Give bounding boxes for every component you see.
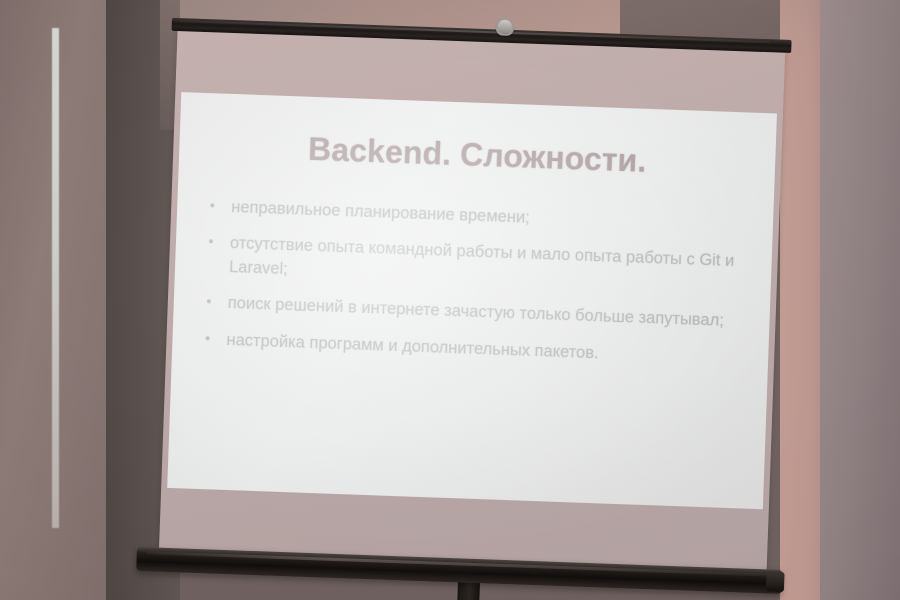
bullet-dot-icon [210, 203, 214, 207]
screenshot-root: Backend. Сложности. неправильное планиро… [0, 0, 900, 600]
list-item-text: поиск решений в интернете зачастую тольк… [228, 294, 725, 330]
list-item: поиск решений в интернете зачастую тольк… [201, 291, 741, 334]
ceiling-hook-icon [496, 17, 515, 36]
list-item: отсутствие опыта командной работы и мало… [203, 232, 744, 298]
list-item: настройка программ и дополнительных паке… [200, 328, 740, 371]
list-item-text: настройка программ и дополнительных паке… [226, 331, 599, 362]
bullet-dot-icon [207, 299, 211, 303]
screen-stand-post [457, 580, 480, 600]
slide-title: Backend. Сложности. [179, 126, 776, 184]
wall-right-dark-panel [820, 0, 900, 600]
projector-screen-fabric: Backend. Сложности. неправильное планиро… [159, 28, 785, 577]
weight-bar-end-cap [766, 571, 785, 592]
projected-slide-area: Backend. Сложности. неправильное планиро… [167, 92, 777, 509]
projector-screen-assembly[interactable]: Backend. Сложности. неправильное планиро… [158, 18, 786, 599]
bullet-dot-icon [206, 336, 210, 340]
list-item: неправильное планирование времени; [205, 195, 745, 238]
slide-content: Backend. Сложности. неправильное планиро… [167, 92, 777, 509]
list-item-text: неправильное планирование времени; [231, 198, 530, 227]
list-item-text: отсутствие опыта командной работы и мало… [229, 234, 735, 277]
slide-bullet-list: неправильное планирование времени; отсут… [200, 195, 746, 383]
wall-light-strip [52, 28, 59, 528]
bullet-dot-icon [209, 240, 213, 244]
